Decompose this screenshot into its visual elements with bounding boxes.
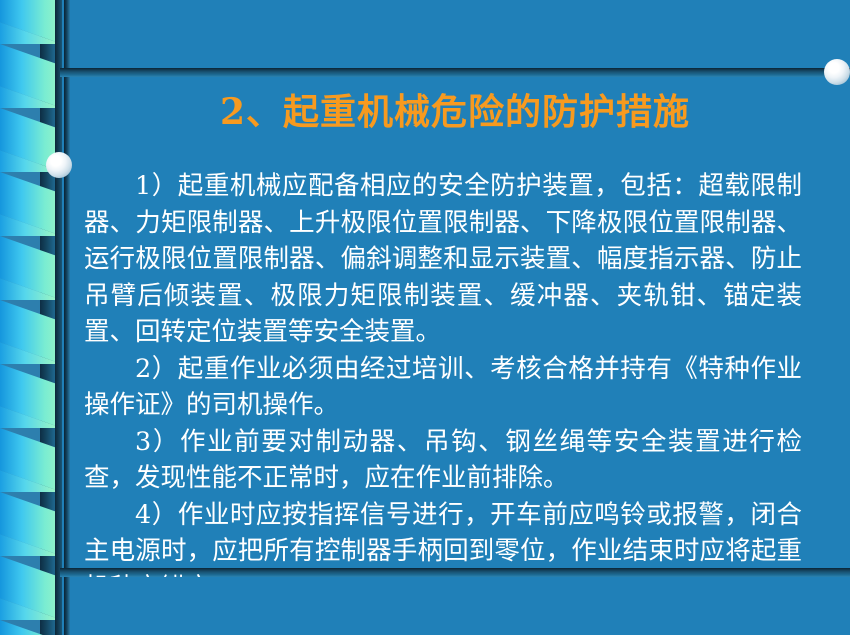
ribbon-segment bbox=[0, 44, 62, 108]
ribbon-segment bbox=[0, 492, 62, 556]
glow-sphere-left bbox=[46, 152, 72, 178]
ribbon-segment bbox=[0, 236, 62, 300]
slide-canvas: 2、起重机械危险的防护措施 1）起重机械应配备相应的安全防护装置，包括：超载限制… bbox=[0, 0, 850, 635]
zigzag-ribbon-band bbox=[0, 0, 62, 635]
ribbon-segment bbox=[0, 300, 62, 364]
ribbon-segment bbox=[0, 428, 62, 492]
ribbon-segment bbox=[0, 0, 62, 44]
ribbon-segment bbox=[0, 364, 62, 428]
body-paragraph-2: 2）起重作业必须由经过培训、考核合格并持有《特种作业操作证》的司机操作。 bbox=[84, 351, 802, 424]
ribbon-inner-edge bbox=[55, 0, 62, 635]
ribbon-fold-light bbox=[0, 620, 62, 635]
body-paragraph-3: 3）作业前要对制动器、吊钩、钢丝绳等安全装置进行检查，发现性能不正常时，应在作业… bbox=[84, 424, 802, 497]
bottom-panel bbox=[70, 577, 850, 635]
ribbon-segment bbox=[0, 172, 62, 236]
ribbon-segment bbox=[0, 620, 62, 635]
body-paragraph-1: 1）起重机械应配备相应的安全防护装置，包括：超载限制器、力矩限制器、上升极限位置… bbox=[84, 168, 802, 351]
horizontal-rule-top bbox=[60, 68, 850, 77]
glow-sphere-right bbox=[824, 59, 850, 85]
page-title: 2、起重机械危险的防护措施 bbox=[70, 92, 840, 133]
ribbon-segment bbox=[0, 556, 62, 620]
body-content: 1）起重机械应配备相应的安全防护装置，包括：超载限制器、力矩限制器、上升极限位置… bbox=[84, 168, 802, 606]
